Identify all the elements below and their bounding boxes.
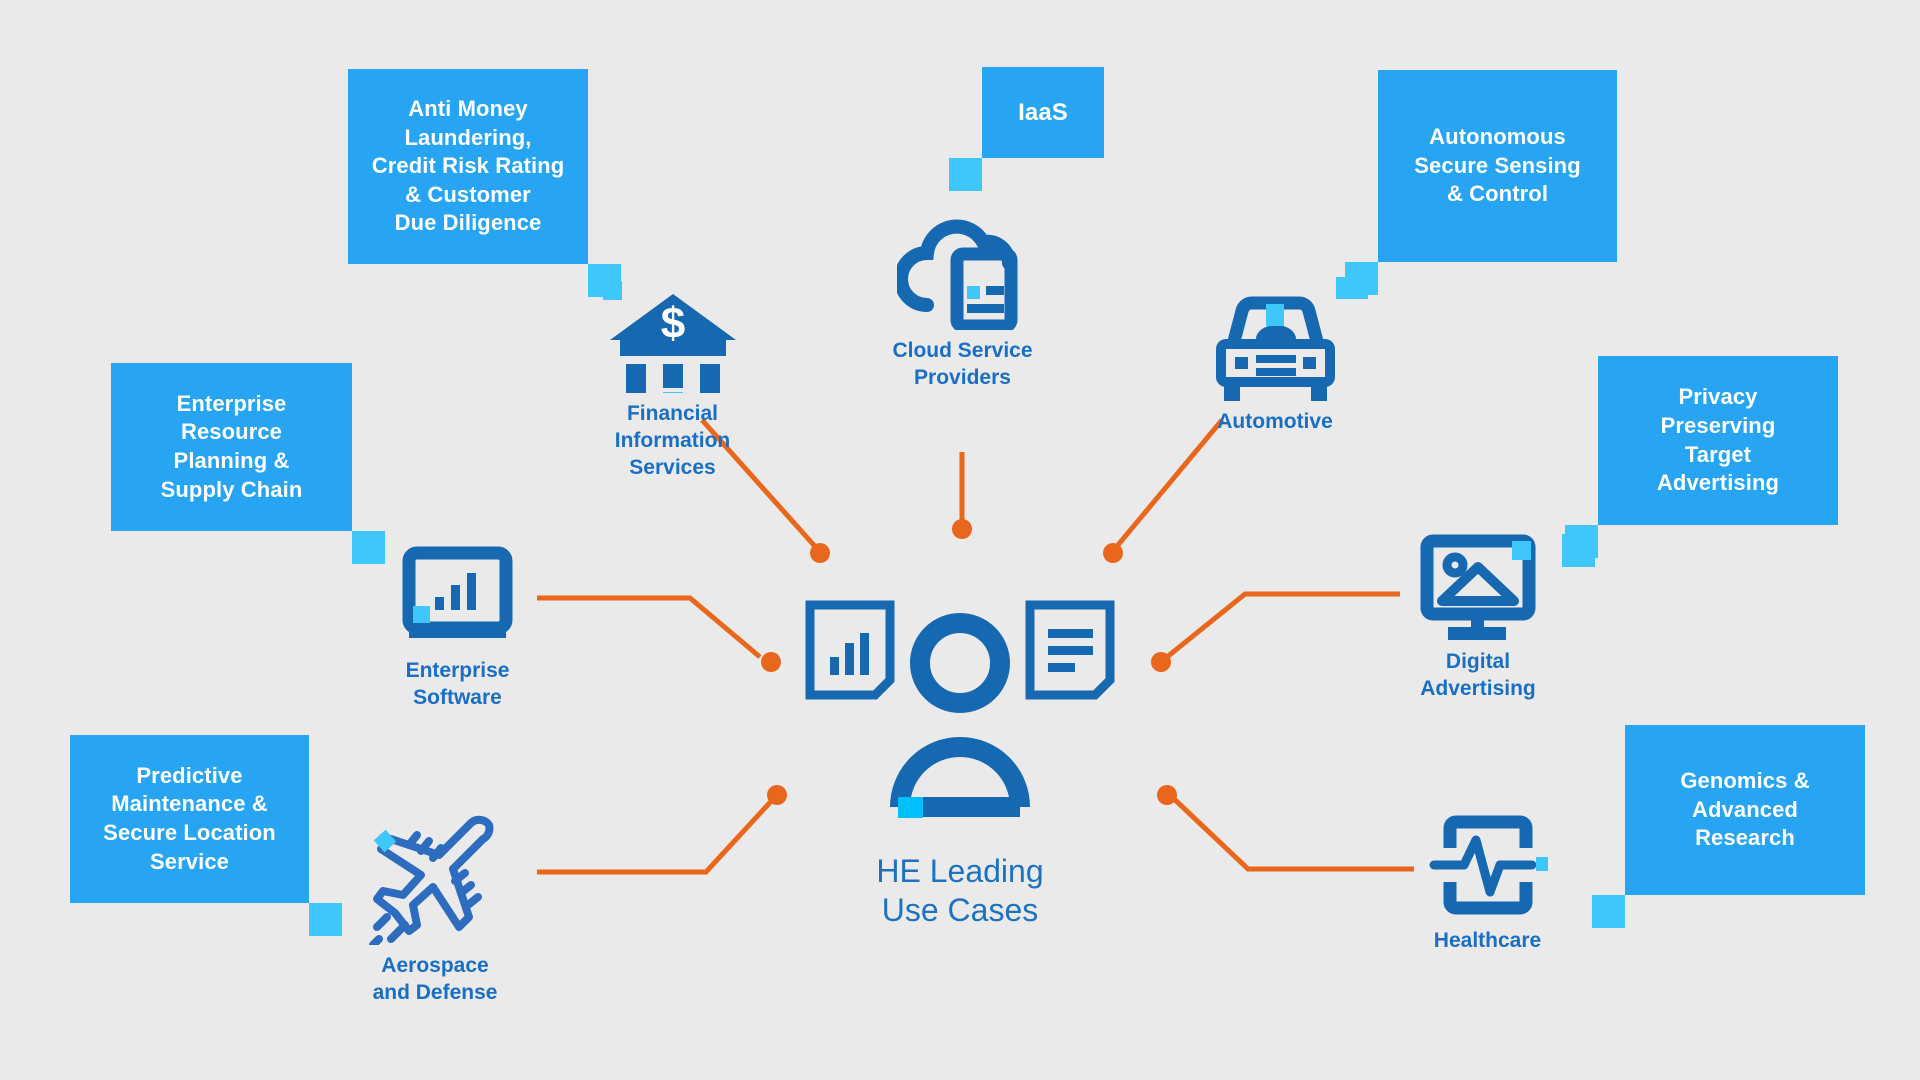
node-healthcare[interactable]: Healthcare xyxy=(1415,810,1560,955)
accent-square-iaas xyxy=(949,158,982,191)
callout-privacy-preserving[interactable]: Privacy Preserving Target Advertising xyxy=(1598,356,1838,525)
bank-dollar-icon: $ xyxy=(608,288,738,393)
callout-predictive-maintenance[interactable]: Predictive Maintenance & Secure Location… xyxy=(70,735,309,903)
hub-icons-svg xyxy=(800,595,1120,825)
heartbeat-monitor-icon xyxy=(1428,810,1548,920)
hub-title: HE Leading Use Cases xyxy=(810,852,1110,930)
accent-square-predictive-maintenance xyxy=(309,903,342,936)
callout-genomics-advanced-research[interactable]: Genomics & Advanced Research xyxy=(1625,725,1865,895)
callout-enterprise-resource-planning[interactable]: Enterprise Resource Planning & Supply Ch… xyxy=(111,363,352,531)
node-financial-information-services[interactable]: $ Financial Information Services xyxy=(600,288,745,482)
callout-autonomous-secure-sensing[interactable]: Autonomous Secure Sensing & Control xyxy=(1378,70,1617,262)
diagram-canvas: Anti Money Laundering, Credit Risk Ratin… xyxy=(0,0,1920,1080)
node-enterprise-software[interactable]: Enterprise Software xyxy=(390,545,525,712)
node-label-aerospace-and-defense: Aerospace and Defense xyxy=(360,953,510,1007)
node-label-financial-information-services: Financial Information Services xyxy=(600,401,745,482)
hub-icon-group xyxy=(800,595,1120,825)
callout-iaas[interactable]: IaaS xyxy=(982,67,1104,158)
car-icon xyxy=(1208,293,1343,401)
cloud-server-icon xyxy=(897,210,1029,330)
text-document-icon xyxy=(1030,605,1110,695)
node-label-automotive: Automotive xyxy=(1205,409,1345,436)
node-digital-advertising[interactable]: Digital Advertising xyxy=(1408,533,1548,703)
node-automotive[interactable]: Automotive xyxy=(1205,293,1345,436)
node-label-healthcare: Healthcare xyxy=(1415,928,1560,955)
monitor-image-icon xyxy=(1418,533,1538,641)
accent-square-digital-advertising-node xyxy=(1562,534,1595,567)
laptop-chart-icon xyxy=(395,545,520,650)
node-label-cloud-service-providers: Cloud Service Providers xyxy=(880,338,1045,392)
node-aerospace-and-defense[interactable]: Aerospace and Defense xyxy=(360,805,510,1007)
svg-text:$: $ xyxy=(660,299,684,348)
accent-square-enterprise-resource-planning xyxy=(352,531,385,564)
person-icon xyxy=(898,623,1020,818)
node-label-digital-advertising: Digital Advertising xyxy=(1408,649,1548,703)
accent-square-financial-node xyxy=(603,281,622,300)
node-cloud-service-providers[interactable]: Cloud Service Providers xyxy=(880,210,1045,392)
callout-anti-money-laundering[interactable]: Anti Money Laundering, Credit Risk Ratin… xyxy=(348,69,588,264)
airplane-icon xyxy=(365,805,505,945)
node-label-enterprise-software: Enterprise Software xyxy=(390,658,525,712)
chart-document-icon xyxy=(810,605,890,695)
accent-square-genomics-advanced-research xyxy=(1592,895,1625,928)
accent-square-automotive-node xyxy=(1336,277,1368,299)
